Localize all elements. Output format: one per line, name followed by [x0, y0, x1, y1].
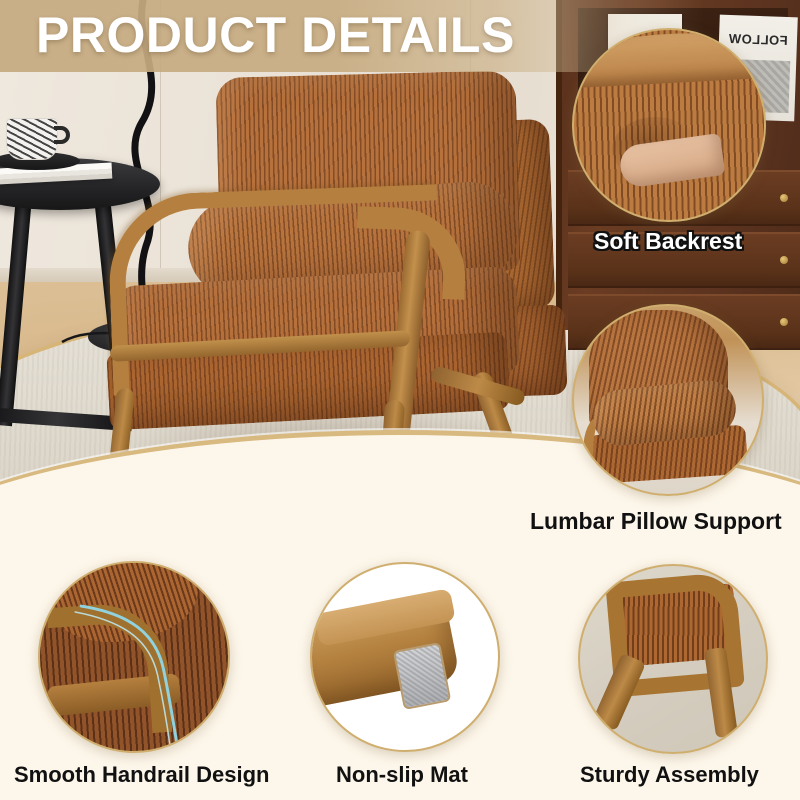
- backrest-top-fold: [572, 28, 766, 88]
- product-details-infographic: FOLLOW: [0, 0, 800, 800]
- accent-chair: [100, 70, 570, 490]
- non-slip-mat-label: Non-slip Mat: [336, 762, 468, 788]
- handrail-highlight-curve: [40, 563, 228, 751]
- page-title: PRODUCT DETAILS: [36, 6, 515, 64]
- sturdy-assembly-label: Sturdy Assembly: [580, 762, 759, 788]
- smooth-handrail-circle: [38, 561, 230, 753]
- smooth-handrail-label: Smooth Handrail Design: [14, 762, 269, 788]
- drawer-knob-icon: [780, 256, 788, 264]
- drawer-knob-icon: [780, 194, 788, 202]
- non-slip-mat-circle: [310, 562, 500, 752]
- soft-backrest-art: [574, 30, 764, 220]
- lumbar-pillow-circle: [572, 304, 764, 496]
- drawer-knob-icon: [780, 318, 788, 326]
- lumbar-pillow-label: Lumbar Pillow Support: [530, 508, 782, 535]
- sturdy-assembly-circle: [578, 564, 768, 754]
- smooth-handrail-art: [40, 563, 228, 751]
- lumbar-pillow-art: [574, 306, 762, 494]
- soft-backrest-label: Soft Backrest: [594, 228, 742, 255]
- coffee-mug: [6, 118, 58, 160]
- soft-backrest-circle: [572, 28, 766, 222]
- non-slip-mat-art: [312, 564, 498, 750]
- sturdy-assembly-art: [580, 566, 766, 752]
